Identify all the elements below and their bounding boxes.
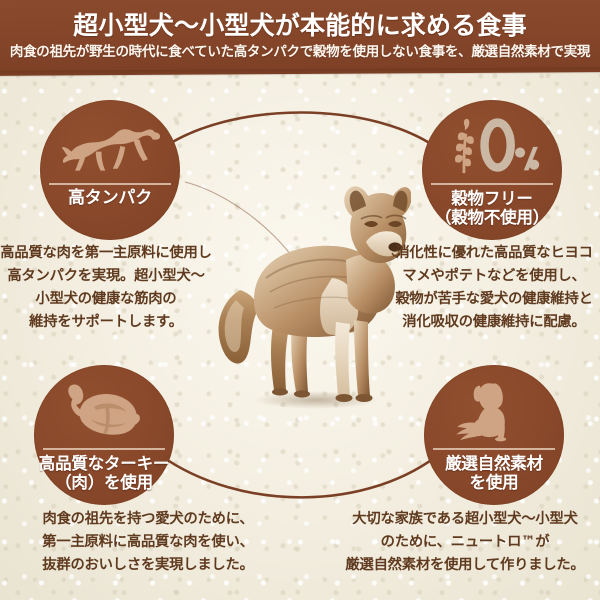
copy-line: 肉食の祖先を持つ愛犬のために、 (0, 508, 296, 531)
connector-arc-top (160, 113, 440, 151)
badge-label-line-1: 高品質なターキー (39, 454, 169, 473)
copy-line: 小型犬の健康な筋肉の (0, 288, 212, 311)
wheat-zero-percent-icon (432, 110, 552, 182)
badge-label-high-protein: 高タンパク (68, 189, 152, 208)
running-dog-icon (50, 110, 170, 182)
copy-natural: 大切な家族である超小型犬〜小型犬 のために、ニュートロ™が 厳選自然素材を使用し… (330, 508, 600, 577)
copy-line: マメやポテトなどを使用し、 (388, 265, 600, 288)
copy-high-protein: 高品質な肉を第一主原料に使用し 高タンパクを実現。超小型犬〜 小型犬の健康な筋肉… (0, 242, 212, 335)
badge-divider (431, 183, 553, 185)
copy-line: 穀物が苦手な愛犬の健康維持と (388, 288, 600, 311)
badge-divider (49, 183, 171, 185)
badge-divider (433, 448, 555, 450)
header-banner: 超小型犬〜小型犬が本能的に求める食事 肉食の祖先が野生の時代に食べていた高タンパ… (0, 0, 600, 76)
badge-high-protein[interactable]: 高タンパク (40, 100, 180, 240)
copy-line: 高品質な肉を第一主原料に使用し (0, 242, 212, 265)
copy-line: 厳選自然素材を使用して作りました。 (330, 554, 600, 577)
badge-natural-ingredients[interactable]: 厳選自然素材 を使用 (424, 365, 564, 505)
copy-line: 維持をサポートします。 (0, 311, 212, 334)
badge-divider (43, 448, 165, 450)
copy-grain-free: 消化性に優れた高品質なヒヨコ マメやポテトなどを使用し、 穀物が苦手な愛犬の健康… (388, 242, 600, 335)
copy-line: 消化性に優れた高品質なヒヨコ (388, 242, 600, 265)
copy-turkey: 肉食の祖先を持つ愛犬のために、 第一主原料に高品質な肉を使い、 抜群のおいしさを… (0, 508, 296, 577)
badge-label-line-1: 厳選自然素材 (445, 454, 543, 473)
roasted-turkey-icon (44, 375, 164, 447)
wolf-photo (196, 150, 411, 415)
page-title: 超小型犬〜小型犬が本能的に求める食事 (73, 12, 527, 40)
wolf-illustration (196, 150, 411, 415)
connector-arc-bottom (160, 452, 442, 497)
copy-line: 消化吸収の健康維持に配慮。 (388, 311, 600, 334)
copy-line: 高タンパクを実現。超小型犬〜 (0, 265, 212, 288)
badge-label-grain-free: 穀物フリー （穀物不使用） (435, 189, 549, 227)
badge-label-line-1: 穀物フリー (435, 189, 549, 208)
copy-line: 大切な家族である超小型犬〜小型犬 (330, 508, 600, 531)
poster-root: 超小型犬〜小型犬が本能的に求める食事 肉食の祖先が野生の時代に食べていた高タンパ… (0, 0, 600, 600)
badge-label-line-2: （肉）を使用 (39, 473, 169, 492)
sitting-dog-icon (434, 375, 554, 447)
copy-line: のために、ニュートロ™が (330, 531, 600, 554)
badge-grain-free[interactable]: 穀物フリー （穀物不使用） (422, 100, 562, 240)
badge-label-natural-ingredients: 厳選自然素材 を使用 (445, 454, 543, 492)
badge-label-line-2: （穀物不使用） (435, 208, 549, 227)
page-subtitle: 肉食の祖先が野生の時代に食べていた高タンパクで穀物を使用しない食事を、厳選自然素… (10, 45, 590, 60)
header-banner-content: 超小型犬〜小型犬が本能的に求める食事 肉食の祖先が野生の時代に食べていた高タンパ… (0, 0, 600, 72)
badge-label-quality-turkey: 高品質なターキー （肉）を使用 (39, 454, 169, 492)
badge-quality-turkey[interactable]: 高品質なターキー （肉）を使用 (34, 365, 174, 505)
badge-label-line-2: を使用 (445, 473, 543, 492)
copy-line: 第一主原料に高品質な肉を使い、 (0, 531, 296, 554)
copy-line: 抜群のおいしさを実現しました。 (0, 554, 296, 577)
